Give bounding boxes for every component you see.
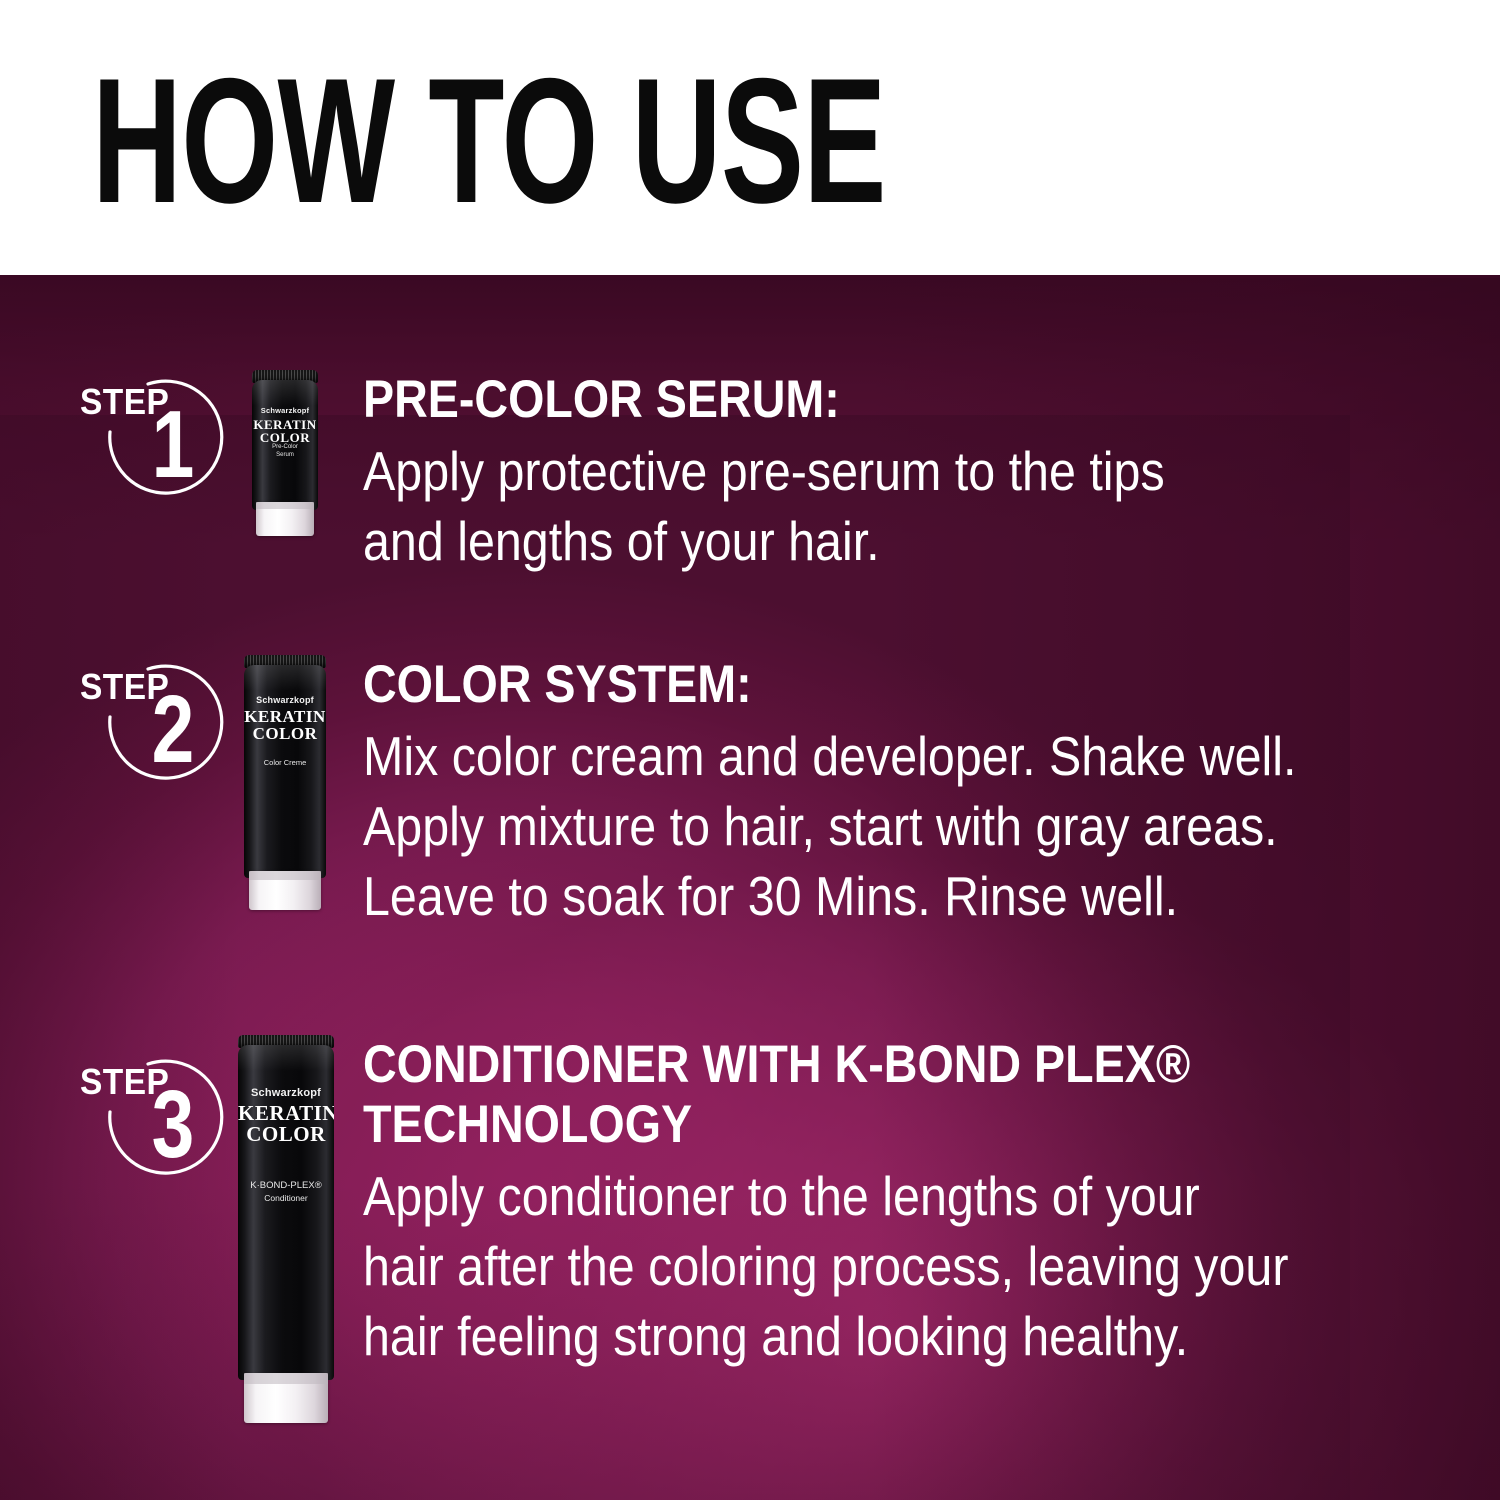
- step-body-2: Mix color cream and developer. Shake wel…: [363, 721, 1322, 931]
- tube-product-line-label: KERATIN COLOR: [238, 1103, 334, 1145]
- tube-variant-line-2: Conditioner: [264, 1193, 307, 1203]
- tube-variant-line-1: K·BOND-PLEX®: [250, 1180, 321, 1191]
- step-body-line: and lengths of your hair.: [363, 506, 1322, 576]
- tube-line-bottom: COLOR: [253, 724, 318, 743]
- step-number-2: 2: [145, 682, 201, 778]
- tube-line-bottom: COLOR: [246, 1122, 326, 1146]
- tube-cap: [249, 871, 321, 910]
- step-heading-3: CONDITIONER WITH K-BOND PLEX® TECHNOLOGY: [363, 1035, 1322, 1155]
- step-copy-3: CONDITIONER WITH K-BOND PLEX® TECHNOLOGY…: [363, 1035, 1453, 1371]
- step-heading-1: PRE-COLOR SERUM:: [363, 370, 1322, 430]
- step-copy-1: PRE-COLOR SERUM: Apply protective pre-se…: [363, 370, 1453, 576]
- step-badge-1: STEP 1: [72, 375, 232, 515]
- tube-brand-label: Schwarzkopf: [238, 1087, 334, 1099]
- step-body-3: Apply conditioner to the lengths of your…: [363, 1161, 1322, 1371]
- step-body-line: Apply protective pre-serum to the tips: [363, 436, 1322, 506]
- step-body-line: Mix color cream and developer. Shake wel…: [363, 721, 1322, 791]
- tube-variant-line-1: Color Creme: [264, 758, 307, 767]
- tube-product-line-label: KERATIN COLOR: [244, 708, 326, 742]
- tube-cap: [256, 502, 314, 536]
- tube-brand-label: Schwarzkopf: [252, 406, 318, 415]
- tube-variant-label: Color Creme: [244, 758, 326, 768]
- header-band: HOW TO USE: [0, 0, 1500, 275]
- step-badge-3: STEP 3: [72, 1055, 232, 1195]
- product-tube-pre-color-serum: Schwarzkopf KERATIN COLOR Pre-Color Seru…: [252, 370, 318, 536]
- step-body-line: hair after the coloring process, leaving…: [363, 1231, 1322, 1301]
- step-body-line: Apply mixture to hair, start with gray a…: [363, 791, 1322, 861]
- step-body-line: Leave to soak for 30 Mins. Rinse well.: [363, 861, 1322, 931]
- tube-variant-label: Pre-Color Serum: [252, 443, 318, 459]
- step-heading-2: COLOR SYSTEM:: [363, 655, 1322, 715]
- step-number-3: 3: [145, 1077, 201, 1173]
- how-to-use-infographic: HOW TO USE STEP 1 Schwarzkopf KERAT: [0, 0, 1500, 1500]
- tube-body: Schwarzkopf KERATIN COLOR Color Creme: [244, 665, 326, 878]
- page-title: HOW TO USE: [92, 52, 886, 230]
- tube-body: Schwarzkopf KERATIN COLOR Pre-Color Seru…: [252, 380, 318, 510]
- steps-stage: STEP 1 Schwarzkopf KERATIN COLOR Pre-Col…: [0, 275, 1500, 1500]
- step-number-1: 1: [145, 397, 201, 493]
- product-tube-kbond-plex-conditioner: Schwarzkopf KERATIN COLOR K·BOND-PLEX® C…: [238, 1035, 334, 1425]
- step-copy-2: COLOR SYSTEM: Mix color cream and develo…: [363, 655, 1453, 931]
- stage-top-divider: [0, 275, 1500, 278]
- tube-product-line-label: KERATIN COLOR: [252, 418, 318, 444]
- tube-variant-line-1: Pre-Color: [272, 444, 298, 450]
- tube-brand-label: Schwarzkopf: [244, 695, 326, 705]
- tube-variant-label: K·BOND-PLEX® Conditioner: [238, 1180, 334, 1206]
- step-body-line: Apply conditioner to the lengths of your: [363, 1161, 1322, 1231]
- step-body-line: hair feeling strong and looking healthy.: [363, 1301, 1322, 1371]
- product-tube-color-creme: Schwarzkopf KERATIN COLOR Color Creme: [244, 655, 326, 910]
- step-body-1: Apply protective pre-serum to the tips a…: [363, 436, 1322, 576]
- tube-variant-line-2: Serum: [276, 452, 294, 458]
- step-badge-2: STEP 2: [72, 660, 232, 800]
- tube-body: Schwarzkopf KERATIN COLOR K·BOND-PLEX® C…: [238, 1045, 334, 1380]
- tube-cap: [244, 1373, 328, 1423]
